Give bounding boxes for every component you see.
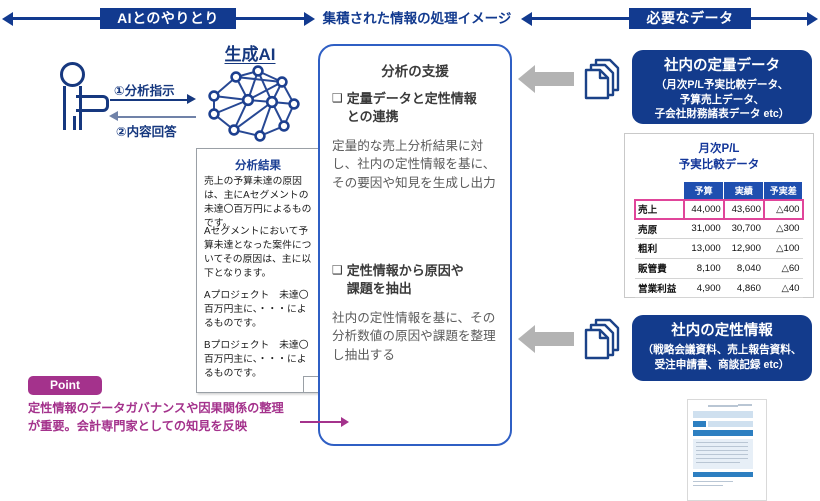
qualitative-data-box: 社内の定性情報 （戦略会議資料、売上報告資料、 受注申請書、商談記録 etc） <box>632 315 812 381</box>
center-section-2-body: 社内の定性情報を基に、その分析数値の原因や課題を整理し抽出する <box>332 309 500 364</box>
quantitative-documents-stack-icon <box>582 56 626 100</box>
pl-row-0-label: 売上 <box>635 200 684 219</box>
bullet-square-icon-1: ❑ <box>332 90 343 106</box>
pl-row-3-budget: 8,100 <box>684 258 724 278</box>
header-center-label: 集積された情報の処理イメージ <box>317 8 517 29</box>
header-arrowhead-to-center <box>304 12 315 26</box>
thumb-block-accent-1 <box>693 421 706 427</box>
pl-row-1-budget: 31,000 <box>684 219 724 239</box>
thumb-block-field <box>708 421 753 427</box>
flow-arrow-1-line <box>110 99 188 101</box>
pl-row-2-actual: 12,900 <box>724 239 764 259</box>
thumb-block-accent-3 <box>693 472 753 477</box>
center-panel-title: 分析の支援 <box>320 60 510 80</box>
pl-row-3-label: 販管費 <box>635 258 684 278</box>
table-row: 営業利益 4,900 4,860 △40 <box>635 278 803 298</box>
header-left-label: AIとのやりとり <box>100 8 236 29</box>
neural-network-icon <box>196 62 306 144</box>
pl-table-card: 月次P/L 予実比較データ 予算 実績 予実差 売上 44,000 43,600… <box>624 133 814 298</box>
quantitative-data-box: 社内の定量データ （月次P/L予実比較データ、 予算売上データ、 子会社財務諸表… <box>632 50 812 124</box>
pl-row-1-label: 売原 <box>635 219 684 239</box>
header-line-2 <box>236 17 304 20</box>
thumb-footer-2 <box>693 485 723 486</box>
person-arm-icon <box>76 95 109 112</box>
center-section-2-heading: 定性情報から原因や 課題を抽出 <box>347 262 464 297</box>
point-connector-arrowhead <box>341 417 349 427</box>
qualitative-data-title: 社内の定性情報 <box>637 323 807 340</box>
point-text: 定性情報のデータガバナンスや因果関係の整理 が重要。会計専門家としての知見を反映 <box>28 400 318 435</box>
thumb-row-2 <box>696 446 748 447</box>
pl-row-1-diff: △300 <box>764 219 803 239</box>
person-leg-left-icon <box>63 116 66 130</box>
quantitative-left-arrow-icon <box>518 62 574 96</box>
diagram-canvas: AIとのやりとり 集積された情報の処理イメージ 必要なデータ 生成AI <box>0 0 820 501</box>
pl-row-0-budget: 44,000 <box>684 200 724 219</box>
pl-row-2-budget: 13,000 <box>684 239 724 259</box>
pl-col-diff: 予実差 <box>764 182 803 200</box>
table-row: 粗利 13,000 12,900 △100 <box>635 239 803 259</box>
qualitative-left-arrow-icon <box>518 322 574 356</box>
note-fold-corner <box>303 376 319 392</box>
thumb-row-6 <box>696 462 740 463</box>
thumb-row-5 <box>696 458 748 459</box>
thumb-block-header <box>693 411 753 418</box>
document-preview-thumbnail <box>687 399 767 501</box>
flow-label-1: ①分析指示 <box>114 80 175 99</box>
pl-row-2-label: 粗利 <box>635 239 684 259</box>
person-leg-right-icon <box>73 116 76 130</box>
pl-row-3-actual: 8,040 <box>724 258 764 278</box>
pl-row-4-label: 営業利益 <box>635 278 684 298</box>
flow-label-2: ②内容回答 <box>116 121 177 140</box>
quantitative-data-title: 社内の定量データ <box>638 58 806 75</box>
header-band: AIとのやりとり 集積された情報の処理イメージ 必要なデータ <box>0 8 820 32</box>
pl-table-header-row: 予算 実績 予実差 <box>635 182 803 200</box>
analysis-result-p4: Bプロジェクト 未達〇百万円主に、・・・によるものです。 <box>204 339 312 381</box>
pl-col-label <box>635 182 684 200</box>
pl-col-actual: 実績 <box>724 182 764 200</box>
pl-table-body: 売上 44,000 43,600 △400 売原 31,000 30,700 △… <box>635 200 803 298</box>
qualitative-data-subtitle: （戦略会議資料、売上報告資料、 受注申請書、商談記録 etc） <box>637 343 807 372</box>
header-line-4 <box>751 17 807 20</box>
table-row: 販管費 8,100 8,040 △60 <box>635 258 803 278</box>
thumb-line-title <box>708 405 738 407</box>
pl-row-4-budget: 4,900 <box>684 278 724 298</box>
center-section-1-body: 定量的な売上分析結果に対し、社内の定性情報を基に、その要因や知見を生成し出力 <box>332 137 500 192</box>
flow-arrow-2-line <box>118 116 196 118</box>
pl-table-title: 月次P/L 予実比較データ <box>635 142 803 173</box>
thumb-block-accent-2 <box>693 430 753 436</box>
thumb-row-1 <box>696 442 748 443</box>
analysis-result-p2: Aセグメントにおいて予算未達となった案件についてその原因は、主に以下となります。 <box>204 225 312 281</box>
thumb-line-meta <box>738 404 752 406</box>
qualitative-documents-stack-icon <box>582 316 626 360</box>
header-line-3 <box>531 17 629 20</box>
person-head-icon <box>60 62 85 87</box>
point-connector-line <box>300 421 342 423</box>
analysis-result-p1: 売上の予算未達の原因は、主にAセグメントの未達〇百万円によるものです。 <box>204 175 312 231</box>
analysis-result-note: 分析結果 売上の予算未達の原因は、主にAセグメントの未達〇百万円によるものです。… <box>196 148 320 393</box>
pl-row-2-diff: △100 <box>764 239 803 259</box>
flow-arrow-2-head <box>109 111 118 121</box>
header-right-arrowhead <box>807 12 818 26</box>
center-section-1: ❑ 定量データと定性情報 との連携 定量的な売上分析結果に対し、社内の定性情報を… <box>332 90 500 192</box>
pl-row-4-actual: 4,860 <box>724 278 764 298</box>
center-section-2: ❑ 定性情報から原因や 課題を抽出 社内の定性情報を基に、その分析数値の原因や課… <box>332 262 500 364</box>
thumb-footer-1 <box>693 481 733 482</box>
center-section-1-heading: 定量データと定性情報 との連携 <box>347 90 477 125</box>
thumb-row-3 <box>696 450 748 451</box>
analysis-result-title: 分析結果 <box>197 157 319 173</box>
table-row: 売上 44,000 43,600 △400 <box>635 200 803 219</box>
point-badge: Point <box>28 376 102 395</box>
table-row: 売原 31,000 30,700 △300 <box>635 219 803 239</box>
pl-table: 予算 実績 予実差 売上 44,000 43,600 △400 売原 31,00… <box>635 181 803 298</box>
bullet-square-icon-2: ❑ <box>332 262 343 278</box>
flow-arrow-1-head <box>187 94 196 104</box>
pl-row-0-actual: 43,600 <box>724 200 764 219</box>
header-right-label: 必要なデータ <box>629 8 751 29</box>
header-line-1 <box>12 17 100 20</box>
quantitative-data-subtitle: （月次P/L予実比較データ、 予算売上データ、 子会社財務諸表データ etc） <box>638 78 806 121</box>
analysis-result-p3: Aプロジェクト 未達〇百万円主に、・・・によるものです。 <box>204 289 312 331</box>
pl-col-budget: 予算 <box>684 182 724 200</box>
pl-row-4-diff: △40 <box>764 278 803 298</box>
center-process-panel: 分析の支援 ❑ 定量データと定性情報 との連携 定量的な売上分析結果に対し、社内… <box>318 44 512 446</box>
pl-row-0-diff: △400 <box>764 200 803 219</box>
pl-row-1-actual: 30,700 <box>724 219 764 239</box>
thumb-row-4 <box>696 454 748 455</box>
pl-row-3-diff: △60 <box>764 258 803 278</box>
